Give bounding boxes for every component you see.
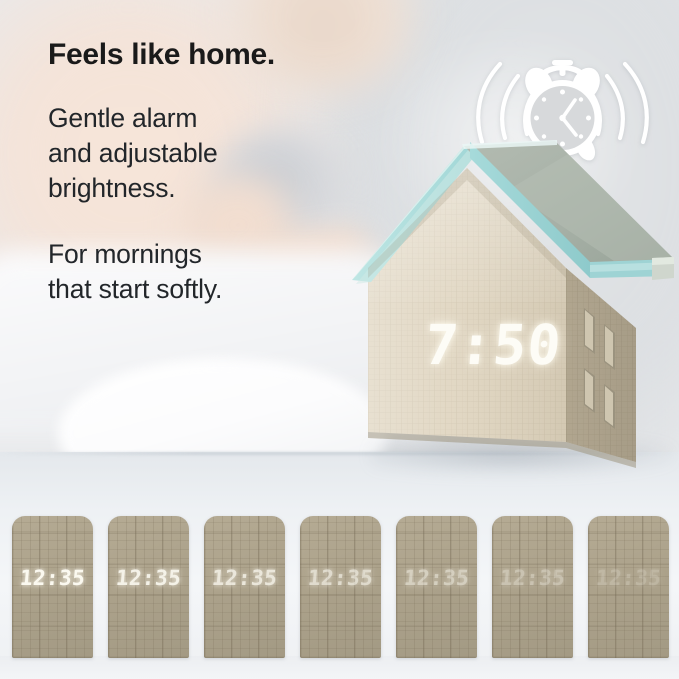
body-paragraph-1: Gentle alarm and adjustable brightness. [48,101,348,207]
headline: Feels like home. [48,38,348,71]
brightness-panel[interactable]: 12:35 [492,516,573,658]
brightness-panel-time: 12:35 [299,568,382,589]
brightness-panel[interactable]: 12:35 [204,516,285,658]
product-marketing-image: Feels like home. Gentle alarm and adjust… [0,0,679,679]
brightness-panel[interactable]: 12:35 [12,516,93,658]
house-clock-display: 7:50 [423,318,564,373]
brightness-panel-time: 12:35 [203,568,286,589]
brightness-panel-time: 12:35 [107,568,190,589]
brightness-level-strip: 12:35 12:35 12:35 12:35 12:35 12:35 12:3… [0,516,679,661]
brightness-panel[interactable]: 12:35 [300,516,381,658]
house-alarm-clock [352,132,679,470]
brightness-panel[interactable]: 12:35 [396,516,477,658]
brightness-panel[interactable]: 12:35 [588,516,669,658]
brightness-panel-time: 12:35 [491,568,574,589]
brightness-panel[interactable]: 12:35 [108,516,189,658]
brightness-panel-time: 12:35 [587,568,670,589]
brightness-panel-time: 12:35 [395,568,478,589]
copy-block: Feels like home. Gentle alarm and adjust… [48,38,348,307]
brightness-panel-time: 12:35 [11,568,94,589]
body-paragraph-2: For mornings that start softly. [48,237,348,307]
